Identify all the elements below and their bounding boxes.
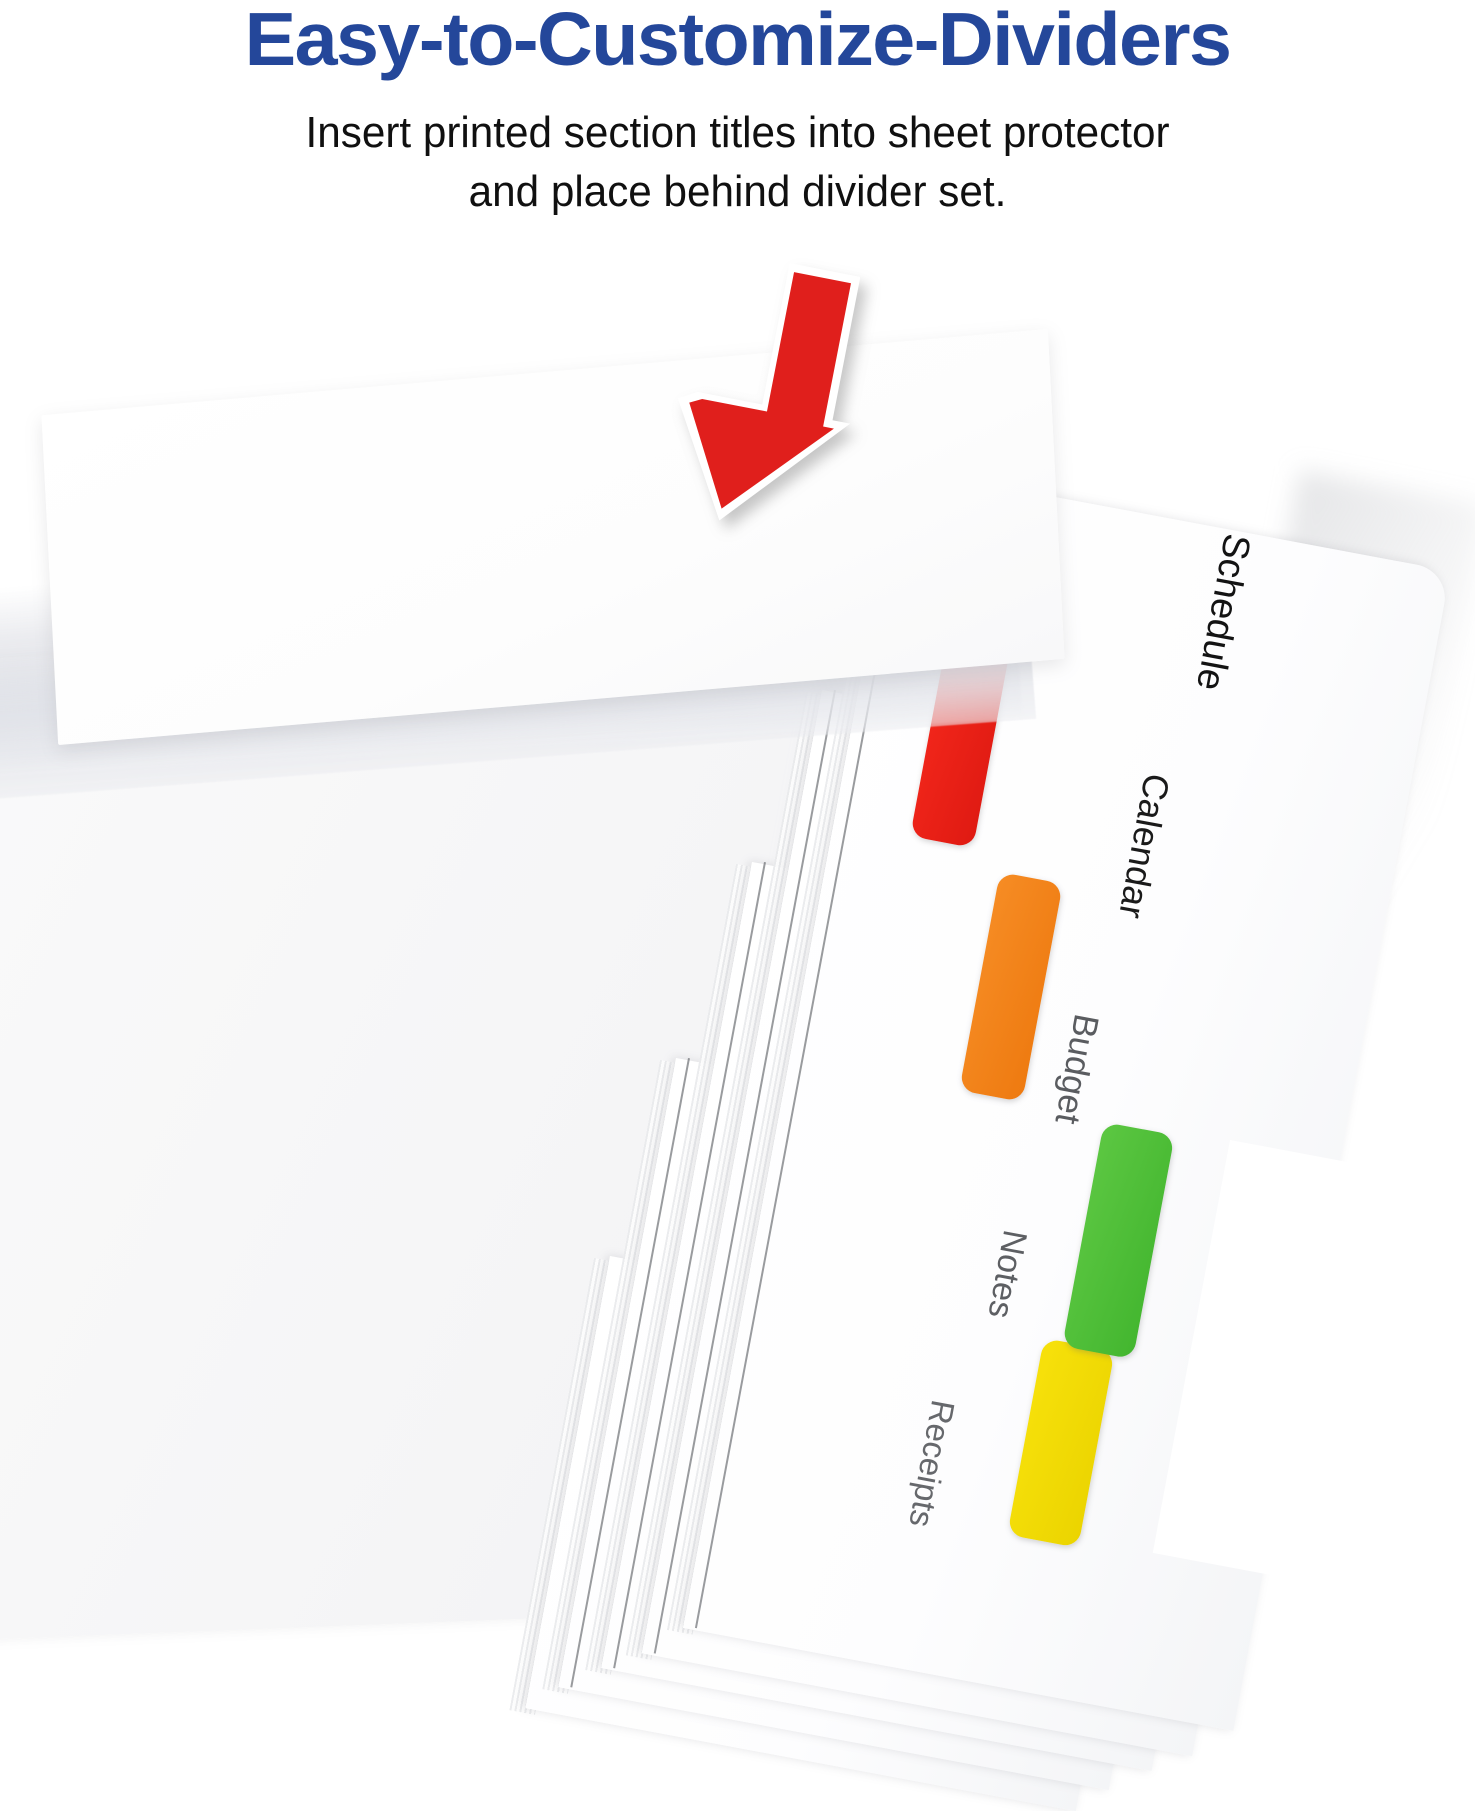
subtitle-line-2: and place behind divider set. xyxy=(30,163,1446,222)
product-marketing-image: Schedule Calendar Budget Notes Receipts … xyxy=(0,0,1475,1500)
subtitle-line-1: Insert printed section titles into sheet… xyxy=(30,104,1446,163)
down-arrow-icon xyxy=(640,252,860,537)
page-headline: Easy-to-Customize-Dividers xyxy=(0,2,1475,77)
page-subtitle: Insert printed section titles into sheet… xyxy=(30,104,1446,221)
